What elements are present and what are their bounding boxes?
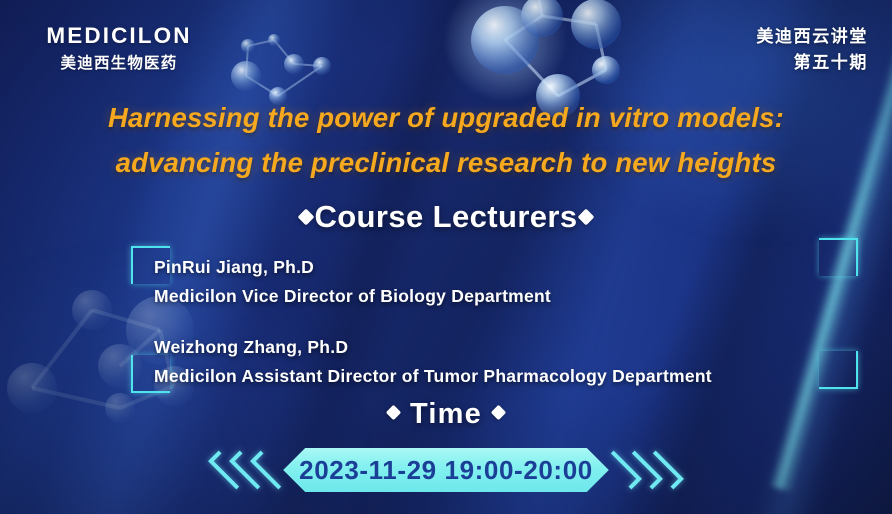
section-heading-lecturers-label: Course Lecturers [314,199,577,234]
section-heading-time: Time [0,398,892,431]
datetime-plate: 2023-11-29 19:00-20:00 [283,448,609,492]
series-label: 美迪西云讲堂 第五十期 [756,24,868,77]
page-title-line2: advancing the preclinical research to ne… [18,141,874,186]
page-title-line1: Harnessing the power of upgraded in vitr… [18,96,874,141]
section-heading-lecturers: Course Lecturers [0,199,892,235]
lecturer-name: Weizhong Zhang, Ph.D [154,335,712,360]
corner-bracket-icon [819,238,858,276]
lecturers-panel: PinRui Jiang, Ph.D Medicilon Vice Direct… [131,246,858,389]
page-title: Harnessing the power of upgraded in vitr… [0,96,892,185]
chevron-right-group [609,450,672,490]
diamond-bullet-icon [386,405,402,421]
lecturer-name: PinRui Jiang, Ph.D [154,255,551,280]
section-heading-time-label: Time [410,398,482,430]
brand-logo-cn: 美迪西生物医药 [29,51,209,73]
diamond-bullet-icon [298,208,315,225]
series-label-line2: 第五十期 [756,50,868,76]
lecturer-role: Medicilon Vice Director of Biology Depar… [154,284,551,309]
datetime-value: 2023-11-29 19:00-20:00 [299,455,593,486]
webinar-poster: MEDICILON 美迪西生物医药 美迪西云讲堂 第五十期 Harnessing… [0,0,892,514]
corner-bracket-icon [819,351,858,389]
diamond-bullet-icon [491,405,507,421]
brand-logo-en: MEDICILON [29,24,209,48]
series-label-line1: 美迪西云讲堂 [756,24,868,50]
time-banner: 2023-11-29 19:00-20:00 [0,443,892,497]
brand-logo: MEDICILON 美迪西生物医药 [29,24,209,73]
lecturer-entry: Weizhong Zhang, Ph.D Medicilon Assistant… [154,335,712,390]
diamond-bullet-icon [577,208,594,225]
lecturer-entry: PinRui Jiang, Ph.D Medicilon Vice Direct… [154,255,551,310]
lecturer-role: Medicilon Assistant Director of Tumor Ph… [154,364,712,389]
chevron-left-group [220,450,283,490]
